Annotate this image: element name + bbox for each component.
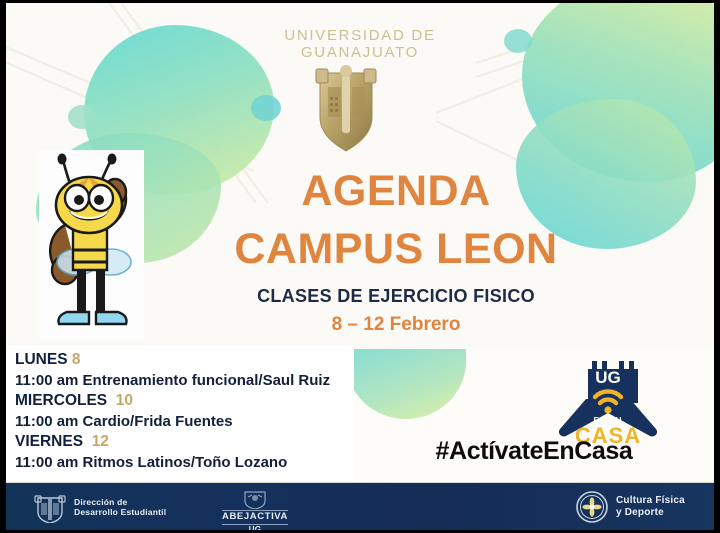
schedule-item: VIERNES 12 11:00 am Ritmos Latinos/Toño … bbox=[15, 432, 355, 473]
schedule-item: LUNES 8 11:00 am Entrenamiento funcional… bbox=[15, 350, 355, 391]
ug-en-tu-casa-wifi-house-icon: UG EN TU CASA bbox=[542, 353, 674, 445]
ug-shield-outline-icon bbox=[34, 491, 66, 523]
schedule-day: VIERNES 12 bbox=[15, 432, 355, 452]
schedule-day-date: 10 bbox=[116, 392, 133, 409]
footer-dde: Dirección de Desarrollo Estudiantil bbox=[34, 491, 166, 523]
schedule-day-name: LUNES bbox=[15, 351, 68, 368]
background-blob bbox=[354, 349, 466, 419]
schedule-class: 11:00 am Entrenamiento funcional/Saul Ru… bbox=[15, 370, 355, 391]
campaign-hashtag: #ActívateEnCasa bbox=[354, 437, 714, 466]
schedule-day: LUNES 8 bbox=[15, 350, 355, 370]
footer-cultura: Cultura Física y Deporte bbox=[576, 491, 685, 523]
schedule-day: MIERCOLES 10 bbox=[15, 391, 355, 411]
schedule-class: 11:00 am Ritmos Latinos/Toño Lozano bbox=[15, 452, 355, 473]
footer-cultura-line2: y Deporte bbox=[616, 507, 685, 519]
schedule-item: MIERCOLES 10 11:00 am Cardio/Frida Fuent… bbox=[15, 391, 355, 432]
schedule-day-date: 12 bbox=[92, 433, 109, 450]
footer-abejactiva-label: ABEJACTIVA bbox=[222, 510, 288, 525]
footer-bar: Dirección de Desarrollo Estudiantil ABEJ… bbox=[6, 483, 714, 530]
schedule-day-name: VIERNES bbox=[15, 433, 83, 450]
university-name-line1: UNIVERSIDAD DE bbox=[6, 27, 714, 44]
abejactiva-shield-icon bbox=[242, 489, 268, 509]
campaign-panel: UG EN TU CASA #ActívateEnCasa bbox=[354, 349, 714, 483]
cultura-fisica-seal-icon bbox=[576, 491, 608, 523]
footer-abejactiva-sub: UG bbox=[249, 525, 261, 531]
background-dot bbox=[251, 95, 281, 121]
schedule-day-name: MIERCOLES bbox=[15, 392, 107, 409]
date-range: 8 – 12 Febrero bbox=[181, 314, 611, 336]
page-subtitle: CLASES DE EJERCICIO FISICO bbox=[181, 286, 611, 307]
svg-text:UG: UG bbox=[595, 368, 621, 387]
page-title-campus: CAMPUS LEON bbox=[181, 225, 611, 274]
background-dot bbox=[68, 105, 96, 129]
poster-frame: UNIVERSIDAD DE GUANAJUATO bbox=[6, 3, 714, 530]
footer-cultura-line1: Cultura Física bbox=[616, 495, 685, 507]
footer-dde-line2: Desarrollo Estudiantil bbox=[74, 507, 166, 518]
university-name-line2: GUANAJUATO bbox=[6, 44, 714, 61]
footer-abejactiva: ABEJACTIVA UG bbox=[222, 489, 288, 530]
university-name: UNIVERSIDAD DE GUANAJUATO bbox=[6, 27, 714, 61]
poster-canvas: UNIVERSIDAD DE GUANAJUATO bbox=[0, 0, 720, 533]
ug-shield-crest-icon bbox=[314, 61, 378, 153]
schedule-list: LUNES 8 11:00 am Entrenamiento funcional… bbox=[15, 350, 355, 473]
bee-mascot-thumbs-up-icon bbox=[39, 150, 144, 340]
footer-dde-line1: Dirección de bbox=[74, 497, 166, 508]
page-title-agenda: AGENDA bbox=[181, 167, 611, 216]
schedule-day-date: 8 bbox=[72, 351, 81, 368]
schedule-class: 11:00 am Cardio/Frida Fuentes bbox=[15, 411, 355, 432]
